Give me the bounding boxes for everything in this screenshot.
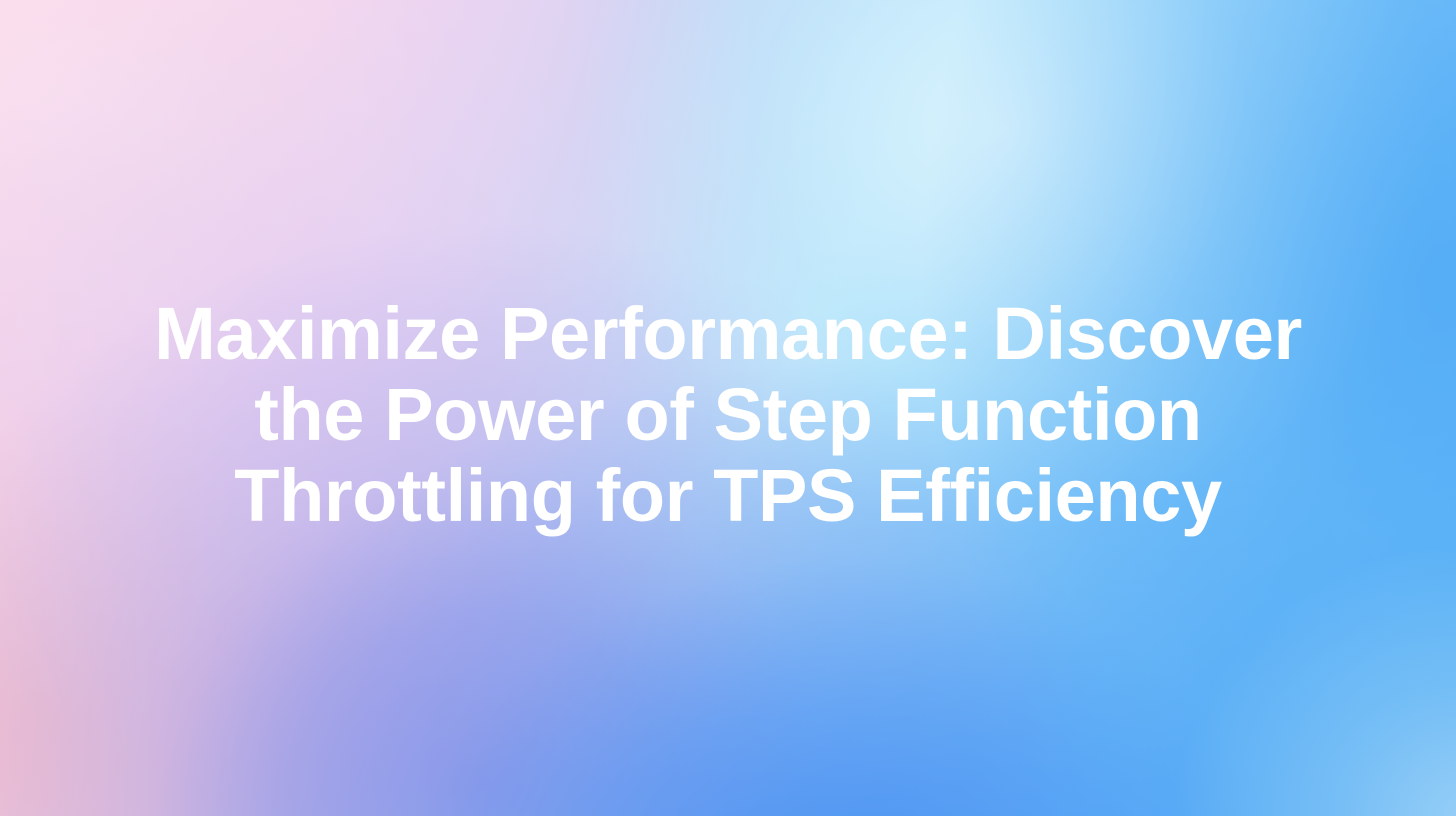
title-block: Maximize Performance: Discover the Power… [0, 293, 1456, 536]
page-title: Maximize Performance: Discover the Power… [133, 293, 1323, 536]
hero-card: Maximize Performance: Discover the Power… [0, 0, 1456, 816]
